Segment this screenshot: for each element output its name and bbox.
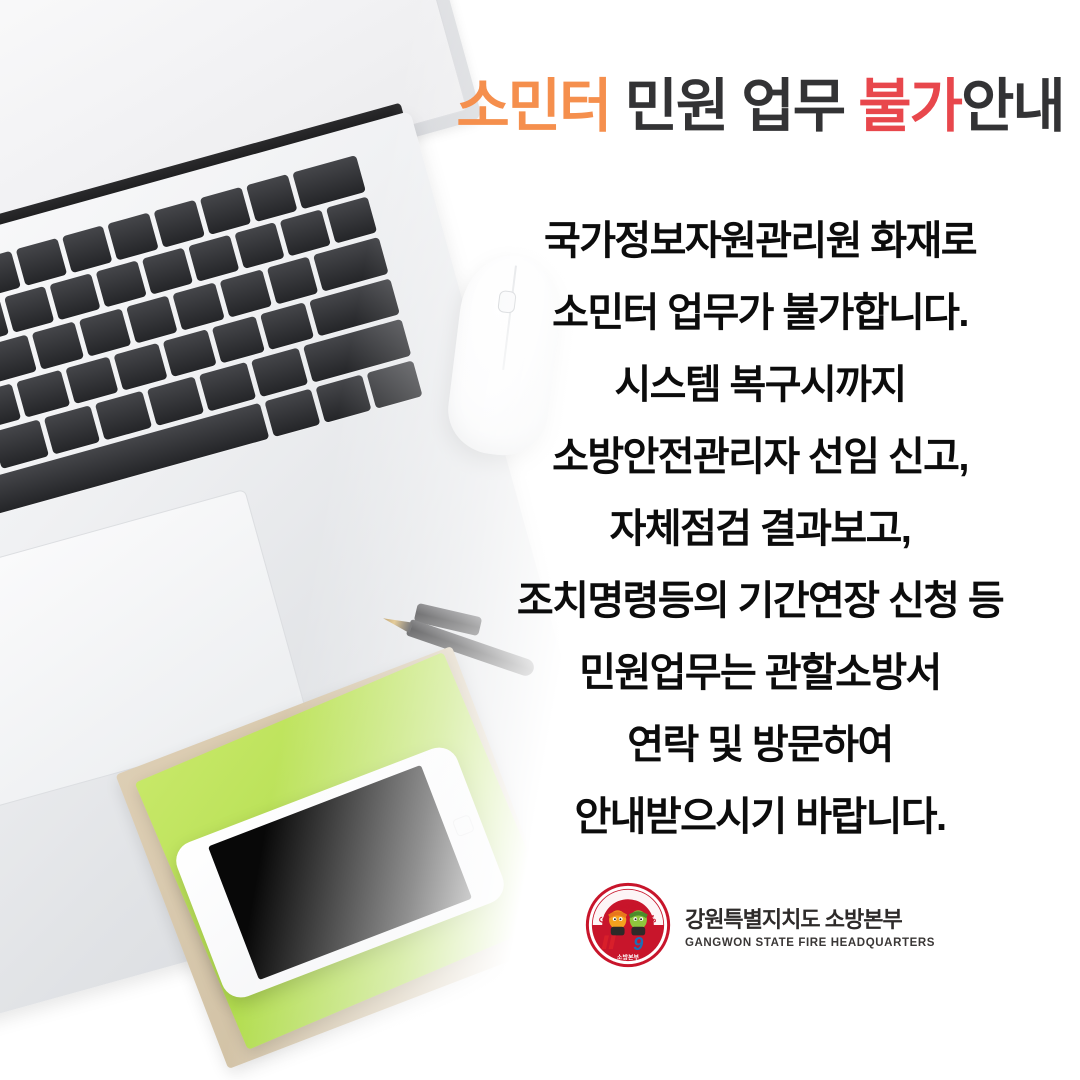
- key: [3, 285, 54, 333]
- notice-line: 소방안전관리자 선임 신고,: [440, 421, 1080, 493]
- title-segment-sominteo: 소민터: [456, 74, 610, 139]
- notice-body: 국가정보자원관리원 화재로 소민터 업무가 불가합니다. 시스템 복구시까지 소…: [440, 205, 1080, 853]
- key: [266, 256, 318, 304]
- key: [326, 196, 377, 244]
- key: [15, 238, 66, 286]
- key: [114, 342, 168, 390]
- key: [200, 187, 251, 235]
- title-segment-annae: 안내: [961, 74, 1064, 139]
- organization-logo: Gangwon State: [440, 882, 1080, 968]
- key: [0, 334, 37, 382]
- key: [188, 234, 239, 282]
- content-column: 소민터 민원 업무 불가안내 국가정보자원관리원 화재로 소민터 업무가 불가합…: [440, 0, 1080, 1080]
- key: [265, 388, 321, 437]
- emblem-number-nine: 9: [633, 934, 643, 954]
- key: [220, 269, 272, 317]
- page-title: 소민터 민원 업무 불가안내: [440, 78, 1080, 136]
- key: [163, 329, 217, 377]
- key: [43, 405, 100, 454]
- key: [260, 302, 314, 350]
- notice-line: 안내받으시기 바랍니다.: [440, 781, 1080, 853]
- notice-line: 연락 및 방문하여: [440, 709, 1080, 781]
- key: [199, 362, 256, 411]
- key: [142, 247, 193, 295]
- key: [108, 212, 159, 260]
- organization-name-kr: 강원특별지치도 소방본부: [685, 902, 935, 934]
- key: [147, 376, 204, 425]
- key: [154, 200, 205, 248]
- key: [32, 321, 84, 369]
- key: [126, 295, 178, 343]
- key: [173, 282, 225, 330]
- key: [316, 374, 372, 423]
- key: [95, 391, 152, 440]
- logo-text-block: 강원특별지치도 소방본부 GANGWON STATE FIRE HEADQUAR…: [685, 902, 935, 949]
- emblem-bottom-text: 소방본부: [617, 953, 640, 961]
- key: [49, 273, 100, 321]
- poster-canvas: 소민터 민원 업무 불가안내 국가정보자원관리원 화재로 소민터 업무가 불가합…: [0, 0, 1080, 1080]
- notice-line: 국가정보자원관리원 화재로: [440, 205, 1080, 277]
- notice-line: 민원업무는 관할소방서: [440, 637, 1080, 709]
- gangwon-fire-emblem-icon: Gangwon State: [585, 882, 671, 968]
- key: [0, 419, 49, 468]
- key: [246, 174, 297, 222]
- title-segment-bulga: 불가: [858, 74, 961, 139]
- notice-line: 조치명령등의 기간연장 신청 등: [440, 565, 1080, 637]
- organization-name-en: GANGWON STATE FIRE HEADQUARTERS: [685, 937, 935, 949]
- key: [96, 260, 147, 308]
- key: [366, 360, 422, 409]
- key: [61, 225, 112, 273]
- key: [251, 348, 308, 397]
- notice-line: 자체점검 결과보고,: [440, 493, 1080, 565]
- key: [280, 209, 331, 257]
- key: [16, 369, 70, 417]
- key: [234, 222, 285, 270]
- notice-line: 소민터 업무가 불가합니다.: [440, 277, 1080, 349]
- key: [65, 356, 119, 404]
- key: [211, 315, 265, 363]
- notice-line: 시스템 복구시까지: [440, 349, 1080, 421]
- key: [79, 308, 131, 356]
- title-segment-minwon-eommu: 민원 업무: [625, 74, 845, 139]
